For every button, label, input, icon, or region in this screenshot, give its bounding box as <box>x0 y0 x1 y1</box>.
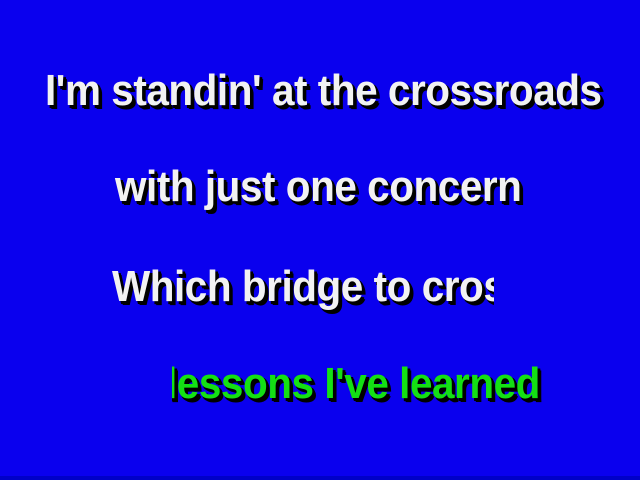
lyric-line-4-active: lessons I've learned <box>172 362 540 406</box>
lyric-line-3: Which bridge to cross <box>112 265 494 309</box>
lyric-line-4-container: lessons I've learned <box>172 358 640 416</box>
lyric-line-1-container: I'm standin' at the crossroads <box>0 66 640 122</box>
karaoke-screen: I'm standin' at the crossroads with just… <box>0 0 640 480</box>
lyric-line-3-container: Which bridge to cross <box>0 262 494 318</box>
bottom-letterbox-edge <box>0 476 640 480</box>
lyric-line-2: with just one concern <box>115 165 521 209</box>
lyric-line-1: I'm standin' at the crossroads <box>45 69 602 113</box>
lyric-line-2-container: with just one concern <box>0 162 640 218</box>
